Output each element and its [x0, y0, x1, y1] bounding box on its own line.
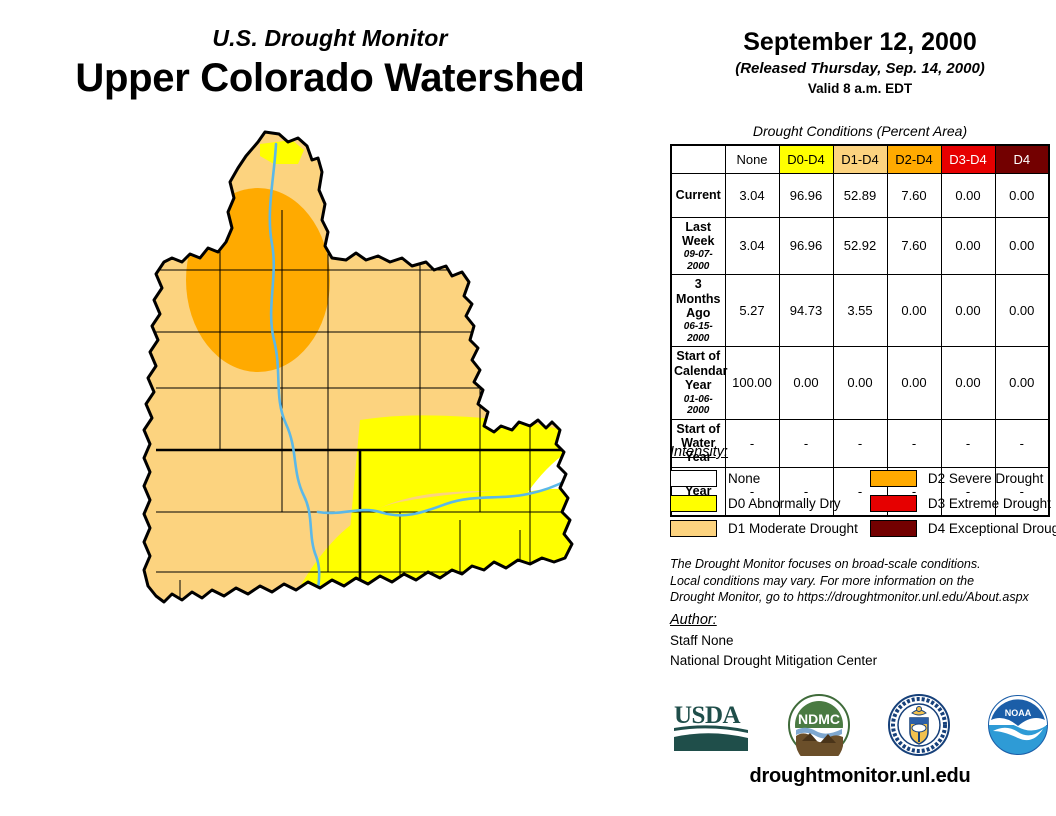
intensity-legend: Intensity: NoneD0 Abnormally DryD1 Moder…	[670, 444, 1056, 541]
legend-label: D1 Moderate Drought	[728, 521, 858, 536]
table-cell: 0.00	[995, 275, 1049, 347]
river-lower-colorado	[306, 654, 616, 721]
table-cell: 0.00	[941, 347, 995, 419]
fill-d2-southwest	[150, 596, 282, 700]
table-row: Current3.0496.9652.897.600.000.00	[671, 173, 1049, 217]
svg-text:NOAA: NOAA	[1005, 708, 1032, 718]
usdc-seal-logo	[888, 694, 950, 756]
table-cell: 3.04	[725, 173, 779, 217]
legend-label: D0 Abnormally Dry	[728, 496, 841, 511]
table-cell: 7.60	[887, 173, 941, 217]
site-url[interactable]: droughtmonitor.unl.edu	[664, 765, 1056, 788]
legend-label: D2 Severe Drought	[928, 471, 1044, 486]
fill-none-east	[490, 590, 660, 680]
legend-item: D2 Severe Drought	[870, 466, 1056, 491]
table-cell: 7.60	[887, 217, 941, 275]
table-caption: Drought Conditions (Percent Area)	[664, 123, 1056, 139]
author-block: Author: Staff None National Drought Miti…	[670, 612, 1056, 670]
table-col-header-d2-d4: D2-D4	[887, 145, 941, 173]
table-cell: 3.04	[725, 217, 779, 275]
legend-item: D3 Extreme Drought	[870, 491, 1056, 516]
table-cell: 96.96	[779, 173, 833, 217]
product-name: U.S. Drought Monitor	[0, 26, 660, 51]
table-row-sublabel: 06-15-2000	[674, 321, 723, 344]
legend-swatch	[870, 520, 917, 537]
drought-monitor-page: U.S. Drought Monitor Upper Colorado Wate…	[0, 0, 1056, 816]
valid-time: Valid 8 a.m. EDT	[664, 81, 1056, 96]
legend-label: D3 Extreme Drought	[928, 496, 1051, 511]
table-cell: 3.55	[833, 275, 887, 347]
table-row-label: 3 Months Ago06-15-2000	[671, 275, 725, 347]
disclaimer-line-2: Local conditions may vary. For more info…	[670, 573, 1056, 590]
legend-label: D4 Exceptional Drought	[928, 521, 1056, 536]
page-title: Upper Colorado Watershed	[0, 55, 660, 101]
drought-map[interactable]	[60, 120, 660, 800]
table-cell: 96.96	[779, 217, 833, 275]
table-col-header-d4: D4	[995, 145, 1049, 173]
table-cell: 0.00	[995, 217, 1049, 275]
legend-item: D1 Moderate Drought	[670, 516, 858, 541]
table-corner-cell	[671, 145, 725, 173]
table-cell: 5.27	[725, 275, 779, 347]
table-col-header-none: None	[725, 145, 779, 173]
svg-text:NDMC: NDMC	[798, 711, 840, 727]
table-cell: 0.00	[887, 347, 941, 419]
table-cell: 100.00	[725, 347, 779, 419]
legend-swatch	[870, 470, 917, 487]
table-cell: 0.00	[995, 173, 1049, 217]
valid-date: September 12, 2000	[664, 28, 1056, 57]
release-date: (Released Thursday, Sep. 14, 2000)	[664, 60, 1056, 77]
disclaimer-text: The Drought Monitor focuses on broad-sca…	[670, 556, 1056, 606]
table-row-label: Last Week09-07-2000	[671, 217, 725, 275]
table-cell: 0.00	[833, 347, 887, 419]
table-row-sublabel: 09-07-2000	[674, 249, 723, 272]
legend-column-left: NoneD0 Abnormally DryD1 Moderate Drought	[670, 466, 858, 541]
title-block: U.S. Drought Monitor Upper Colorado Wate…	[0, 26, 660, 101]
legend-label: None	[728, 471, 760, 486]
author-heading: Author:	[670, 612, 1056, 628]
table-row: Last Week09-07-20003.0496.9652.927.600.0…	[671, 217, 1049, 275]
map-svg[interactable]	[60, 120, 660, 800]
disclaimer-line-1: The Drought Monitor focuses on broad-sca…	[670, 556, 1056, 573]
table-cell: 94.73	[779, 275, 833, 347]
table-cell: 52.89	[833, 173, 887, 217]
logo-strip: USDA NDMC	[664, 692, 1056, 758]
table-row-label: Current	[671, 173, 725, 217]
table-row: 3 Months Ago06-15-20005.2794.733.550.000…	[671, 275, 1049, 347]
noaa-logo: NOAA	[988, 695, 1048, 755]
legend-column-right: D2 Severe DroughtD3 Extreme DroughtD4 Ex…	[870, 466, 1056, 541]
table-col-header-d0-d4: D0-D4	[779, 145, 833, 173]
legend-title: Intensity:	[670, 444, 1056, 460]
date-block: September 12, 2000 (Released Thursday, S…	[664, 28, 1056, 96]
table-cell: 0.00	[887, 275, 941, 347]
legend-item: None	[670, 466, 858, 491]
table-header-row: NoneD0-D4D1-D4D2-D4D3-D4D4	[671, 145, 1049, 173]
table-cell: 0.00	[941, 275, 995, 347]
legend-item: D4 Exceptional Drought	[870, 516, 1056, 541]
table-cell: 0.00	[779, 347, 833, 419]
legend-swatch	[670, 470, 717, 487]
table-col-header-d1-d4: D1-D4	[833, 145, 887, 173]
table-cell: 0.00	[941, 173, 995, 217]
reservoir-lake-powell	[180, 620, 300, 676]
table-row-sublabel: 01-06-2000	[674, 394, 723, 417]
disclaimer-line-3[interactable]: Drought Monitor, go to https://droughtmo…	[670, 589, 1056, 606]
legend-item: D0 Abnormally Dry	[670, 491, 858, 516]
legend-swatch	[670, 520, 717, 537]
ndmc-logo: NDMC	[788, 694, 850, 756]
table-row-label: Start of Calendar Year01-06-2000	[671, 347, 725, 419]
svg-text:USDA: USDA	[674, 702, 741, 729]
table-cell: 0.00	[941, 217, 995, 275]
table-col-header-d3-d4: D3-D4	[941, 145, 995, 173]
table-row: Start of Calendar Year01-06-2000100.000.…	[671, 347, 1049, 419]
legend-swatch	[670, 495, 717, 512]
author-name: Staff None	[670, 631, 1056, 651]
table-cell: 0.00	[995, 347, 1049, 419]
fill-d2-north	[186, 188, 330, 372]
legend-swatch	[870, 495, 917, 512]
author-org: National Drought Mitigation Center	[670, 651, 1056, 671]
table-cell: 52.92	[833, 217, 887, 275]
usda-logo: USDA	[672, 697, 750, 753]
